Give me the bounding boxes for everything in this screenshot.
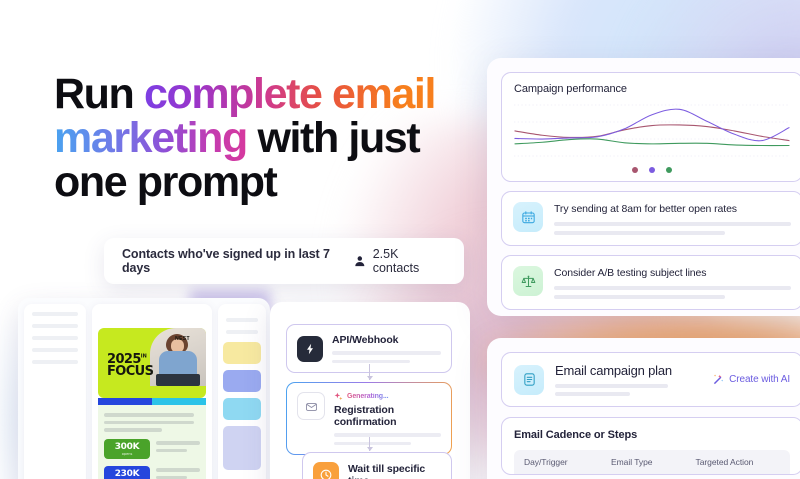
- stat-lines: [156, 441, 200, 456]
- builder-left-column: [24, 304, 86, 479]
- builder-canvas[interactable]: NEST 2025IN FOCUS 300K opens: [92, 304, 212, 479]
- suggestion-body: Try sending at 8am for better open rates: [554, 202, 791, 235]
- skeleton-line: [104, 428, 162, 432]
- skeleton-line: [32, 360, 78, 364]
- skeleton-line: [554, 231, 725, 235]
- headline-line-1: Run complete email: [54, 73, 474, 117]
- contacts-count-group: 2.5K contacts: [354, 247, 446, 275]
- email-builder-mock[interactable]: NEST 2025IN FOCUS 300K opens: [18, 298, 270, 479]
- page-title: Run complete email marketing with just o…: [54, 73, 474, 205]
- skeleton-line: [104, 421, 194, 425]
- contacts-count: 2.5K contacts: [373, 247, 446, 275]
- headline-line-3: one prompt: [54, 161, 474, 205]
- series-line-sends: [515, 139, 789, 146]
- suggestion-body: Consider A/B testing subject lines: [554, 266, 791, 299]
- hero-word: FOCUS: [107, 364, 153, 379]
- workflow-node-body: API/Webhook: [332, 334, 441, 363]
- color-swatch-yellow[interactable]: [223, 342, 261, 364]
- email-body-mock: 300K opens 230K clicks: [98, 405, 206, 479]
- campaign-performance-card[interactable]: Campaign performance: [501, 72, 800, 182]
- stat-row: 230K clicks: [104, 466, 200, 479]
- color-swatch-blue[interactable]: [223, 370, 261, 392]
- column-header-targeted-action: Targeted Action: [696, 457, 781, 467]
- stat-value: 230K: [115, 469, 140, 479]
- suggestion-text: Consider A/B testing subject lines: [554, 267, 791, 279]
- chart-svg: [514, 101, 790, 163]
- skeleton-line: [334, 442, 411, 446]
- series-line-clicks: [515, 109, 789, 141]
- plan-body: Email campaign plan: [555, 363, 700, 396]
- email-hero-banner: NEST 2025IN FOCUS: [98, 328, 206, 398]
- workflow-node-label: Wait till specific time: [348, 463, 441, 479]
- column-header-email-type: Email Type: [611, 457, 695, 467]
- skeleton-line: [104, 413, 194, 417]
- cadence-table-header: Day/Trigger Email Type Targeted Action: [514, 450, 790, 474]
- clock-icon: [313, 462, 339, 479]
- suggestion-text: Try sending at 8am for better open rates: [554, 203, 791, 215]
- create-with-ai-label: Create with AI: [729, 374, 790, 385]
- skeleton-line: [332, 351, 441, 355]
- suggestion-card-ab-testing[interactable]: Consider A/B testing subject lines: [501, 255, 800, 310]
- headline-line-2: marketing with just: [54, 117, 474, 161]
- workflow-connector: [369, 437, 370, 451]
- stat-sub: opens: [122, 452, 133, 456]
- hero-brand-logo: NEST: [175, 336, 190, 342]
- skeleton-line: [332, 360, 410, 364]
- create-with-ai-button[interactable]: Create with AI: [711, 373, 790, 386]
- skeleton-line: [555, 384, 668, 388]
- chart-gridlines: [514, 105, 790, 156]
- contacts-label: Contacts who've signed up in last 7 days: [122, 247, 354, 275]
- photo-laptop: [156, 374, 200, 386]
- suggestion-card-send-time[interactable]: Try sending at 8am for better open rates: [501, 191, 800, 246]
- legend-dot-sends[interactable]: [666, 167, 672, 173]
- workflow-node-label: Registration confirmation: [334, 404, 441, 428]
- workflow-node-body: Wait till specific time: [348, 463, 441, 479]
- magic-wand-icon: [711, 373, 724, 386]
- calendar-icon: [513, 202, 543, 232]
- skeleton-line: [32, 348, 78, 352]
- hero-color-bar: [98, 398, 206, 405]
- hero-in: IN: [141, 354, 147, 360]
- skeleton-line: [554, 222, 791, 226]
- stat-row: 300K opens: [104, 439, 200, 459]
- plan-title: Email campaign plan: [555, 363, 700, 378]
- headline-with-just: with just: [247, 114, 419, 162]
- color-swatch-cyan[interactable]: [223, 398, 261, 420]
- workflow-node-label: API/Webhook: [332, 334, 441, 346]
- cadence-title: Email Cadence or Steps: [514, 429, 790, 441]
- email-campaign-plan-card[interactable]: Email campaign plan Create with AI: [501, 352, 800, 407]
- campaign-plan-panel: Email campaign plan Create with AI Email…: [487, 338, 800, 479]
- skeleton-line: [32, 312, 78, 316]
- column-header-day-trigger: Day/Trigger: [524, 457, 611, 467]
- page-root: Run complete email marketing with just o…: [0, 0, 800, 479]
- skeleton-line: [32, 336, 78, 340]
- person-icon: [354, 255, 366, 267]
- skeleton-line: [554, 295, 725, 299]
- skeleton-line: [32, 324, 78, 328]
- contacts-card[interactable]: Contacts who've signed up in last 7 days…: [104, 238, 464, 284]
- envelope-icon: [297, 392, 325, 420]
- workflow-node-body: Generating... Registration confirmation: [334, 392, 441, 445]
- chart-title: Campaign performance: [514, 83, 790, 95]
- sparkle-icon: [334, 392, 343, 401]
- hero-headline: 2025IN FOCUS: [107, 354, 153, 378]
- headline-marketing: marketing: [54, 114, 247, 162]
- insights-panel: Campaign performance: [487, 58, 800, 316]
- skeleton-line: [334, 433, 441, 437]
- builder-style-panel[interactable]: [218, 304, 266, 479]
- legend-dot-opens[interactable]: [632, 167, 638, 173]
- chart-series: [515, 109, 789, 145]
- headline-run: Run: [54, 70, 144, 118]
- stat-badge-300k: 300K opens: [104, 439, 150, 459]
- chart-legend: [514, 167, 790, 173]
- workflow-node-wait-till-specific-time[interactable]: Wait till specific time: [302, 452, 452, 479]
- legend-dot-clicks[interactable]: [649, 167, 655, 173]
- skeleton-line: [554, 286, 791, 290]
- stat-badge-230k: 230K clicks: [104, 466, 150, 479]
- generating-badge: Generating...: [334, 392, 441, 401]
- skeleton-line: [226, 318, 258, 322]
- lightning-icon: [297, 336, 323, 362]
- stat-lines: [156, 468, 200, 479]
- scales-icon: [513, 266, 543, 296]
- stat-value: 300K: [115, 442, 140, 452]
- color-swatch-lavender[interactable]: [223, 426, 261, 470]
- generating-label: Generating...: [347, 393, 389, 400]
- document-icon: [514, 365, 544, 395]
- skeleton-line: [226, 330, 258, 334]
- email-cadence-card[interactable]: Email Cadence or Steps Day/Trigger Email…: [501, 417, 800, 475]
- workflow-connector: [369, 364, 370, 380]
- campaign-performance-chart: [514, 101, 790, 163]
- workflow-card[interactable]: API/Webhook Generating... Registration c…: [270, 302, 470, 479]
- headline-complete-email: complete email: [144, 70, 435, 118]
- skeleton-line: [555, 392, 630, 396]
